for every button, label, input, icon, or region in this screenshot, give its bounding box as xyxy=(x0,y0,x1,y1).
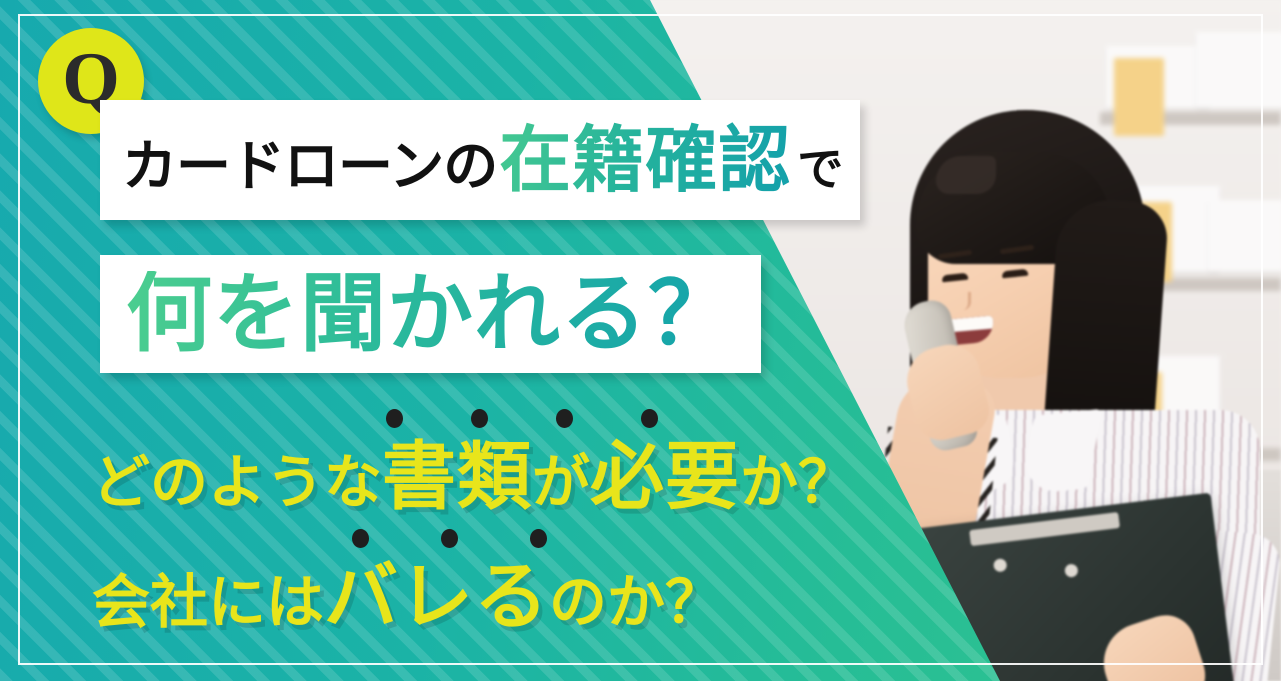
emphasis-dots-row-1 xyxy=(386,409,658,428)
emphasis-dot xyxy=(441,529,458,548)
headline-highlight: 在籍確認 xyxy=(497,118,793,202)
hair-parting xyxy=(936,156,996,194)
headline-box-primary: カードローンの在籍確認で xyxy=(100,100,860,220)
emphasis-dot xyxy=(556,409,573,428)
subheading-1-seg-2: が xyxy=(532,448,590,516)
subheading-2: 会社にはバレるのか？ xyxy=(92,560,723,634)
banner: Q カードローンの在籍確認で 何を聞かれる？ どのような書類が必要か？ 会社には… xyxy=(0,0,1281,681)
subheading-1-seg-1: 書類 xyxy=(382,434,532,520)
clipboard-rivet xyxy=(993,558,1007,572)
emphasis-dot xyxy=(386,409,403,428)
headline-line-1: カードローンの在籍確認で xyxy=(122,124,842,196)
headline-suffix: で xyxy=(793,142,842,196)
subheading-1-seg-4: か？ xyxy=(740,448,856,516)
subheading-1-seg-0: どのような xyxy=(92,448,382,516)
emphasis-dot xyxy=(641,409,658,428)
emphasis-dot xyxy=(352,529,369,548)
subheading-2-seg-1: バレる xyxy=(324,554,549,640)
emphasis-dot xyxy=(471,409,488,428)
subheading-1-seg-3: 必要 xyxy=(590,434,740,520)
subheading-2-seg-0: 会社には xyxy=(92,568,324,636)
emphasis-dots-row-2 xyxy=(352,529,547,548)
clipboard-rivet xyxy=(1064,563,1078,577)
subheading-2-seg-2: のか？ xyxy=(549,568,723,636)
emphasis-dot xyxy=(530,529,547,548)
subheading-1: どのような書類が必要か？ xyxy=(92,440,856,514)
headline-prefix: カードローンの xyxy=(122,134,497,198)
headline-box-secondary: 何を聞かれる？ xyxy=(100,255,761,373)
headline-line-2: 何を聞かれる？ xyxy=(126,271,735,357)
nose xyxy=(954,292,971,310)
